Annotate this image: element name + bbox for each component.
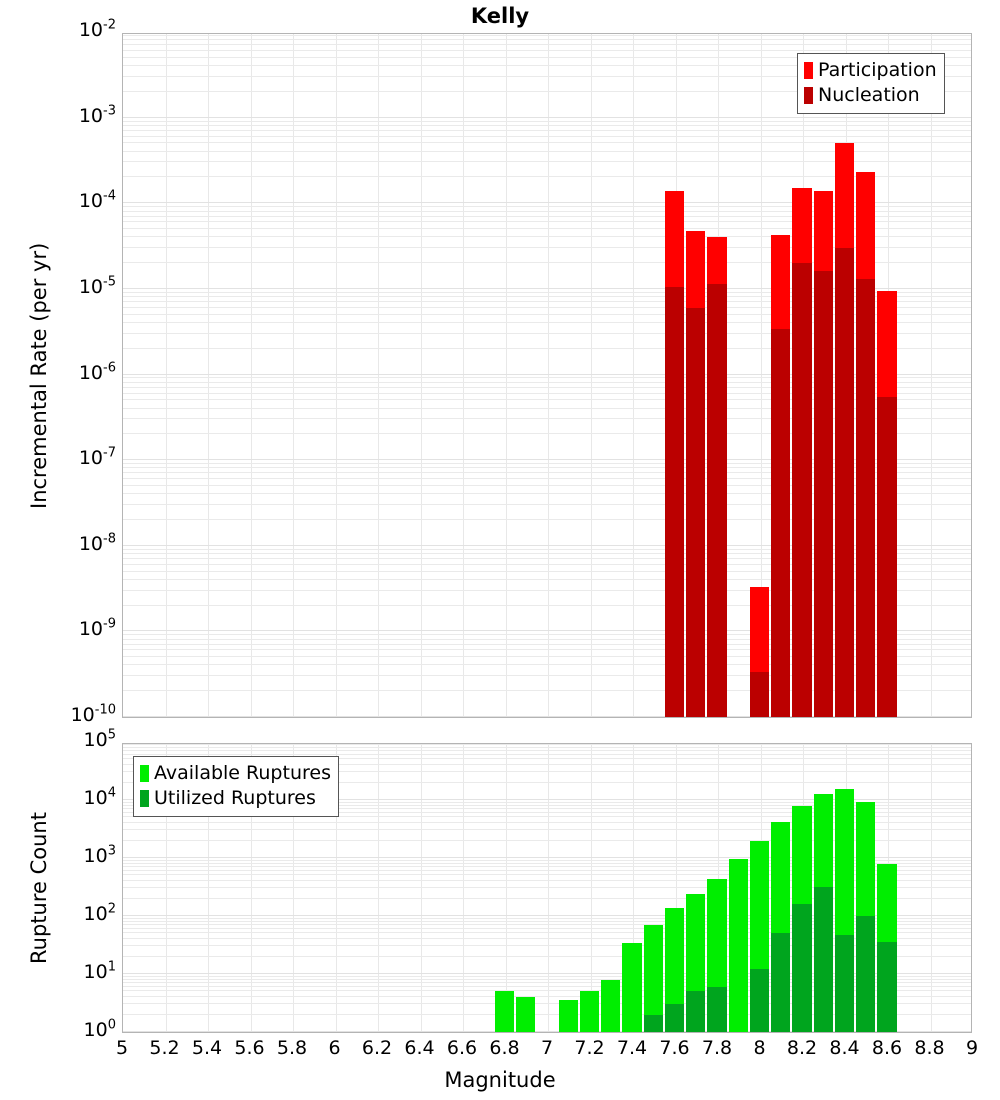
bar-segment-utilized ruptures — [665, 1004, 684, 1032]
y-tick-label: 10-4 — [79, 190, 116, 212]
bar-segment-nucleation — [792, 263, 811, 717]
bar-group — [771, 34, 790, 717]
bar-segment-available ruptures — [580, 991, 599, 1032]
legend-item[interactable]: Participation — [804, 58, 937, 83]
legend-swatch-available — [140, 765, 149, 782]
bar-segment-utilized ruptures — [686, 991, 705, 1032]
bar-group — [516, 744, 535, 1032]
x-axis-title: Magnitude — [0, 1068, 1000, 1092]
bar-group — [814, 744, 833, 1032]
bar-group — [814, 34, 833, 717]
bar-group — [665, 34, 684, 717]
legend-item[interactable]: Available Ruptures — [140, 761, 331, 786]
bar-segment-utilized ruptures — [835, 935, 854, 1032]
bar-segment-nucleation — [686, 308, 705, 717]
y-tick-label: 10-10 — [71, 704, 116, 726]
bar-segment-available ruptures — [601, 980, 620, 1032]
bar-group — [707, 34, 726, 717]
y-tick-label: 10-9 — [79, 618, 116, 640]
legend-swatch-utilized — [140, 790, 149, 807]
legend-item[interactable]: Nucleation — [804, 83, 937, 108]
bar-segment-available ruptures — [495, 991, 514, 1032]
bar-segment-nucleation — [877, 397, 896, 717]
legend-label: Available Ruptures — [154, 764, 331, 783]
bar-group — [622, 744, 641, 1032]
bar-group — [856, 744, 875, 1032]
y-tick-label: 10-6 — [79, 362, 116, 384]
legend-label: Utilized Ruptures — [154, 789, 316, 808]
bottom-plot-legend: Available RupturesUtilized Ruptures — [133, 756, 339, 817]
y-tick-label: 10-3 — [79, 105, 116, 127]
bar-segment-nucleation — [665, 287, 684, 717]
top-plot-bars — [123, 34, 971, 717]
bar-segment-utilized ruptures — [792, 904, 811, 1032]
legend-item[interactable]: Utilized Ruptures — [140, 786, 331, 811]
bar-segment-available ruptures — [622, 943, 641, 1032]
bar-group — [729, 744, 748, 1032]
bar-segment-available ruptures — [516, 997, 535, 1032]
y-tick-label: 102 — [84, 903, 116, 925]
bar-segment-nucleation — [750, 672, 769, 718]
bar-segment-available ruptures — [729, 859, 748, 1032]
bar-group — [771, 744, 790, 1032]
page-title: Kelly — [0, 4, 1000, 28]
bar-segment-utilized ruptures — [644, 1015, 663, 1032]
legend-swatch-nucleation — [804, 87, 813, 104]
bar-segment-nucleation — [707, 284, 726, 717]
y-tick-label: 101 — [84, 961, 116, 983]
bar-segment-nucleation — [835, 248, 854, 717]
bar-group — [580, 744, 599, 1032]
bar-group — [686, 34, 705, 717]
bar-group — [792, 34, 811, 717]
bar-group — [559, 744, 578, 1032]
bar-group — [835, 34, 854, 717]
bar-segment-utilized ruptures — [771, 933, 790, 1032]
bar-segment-utilized ruptures — [856, 916, 875, 1032]
bar-segment-utilized ruptures — [877, 942, 896, 1032]
y-tick-label: 10-8 — [79, 533, 116, 555]
chart-page: Kelly 10-210-310-410-510-610-710-810-910… — [0, 0, 1000, 1100]
top-plot-y-axis-title: Incremental Rate (per yr) — [27, 242, 51, 508]
y-tick-label: 10-7 — [79, 447, 116, 469]
bar-segment-utilized ruptures — [707, 987, 726, 1032]
bar-segment-nucleation — [814, 271, 833, 717]
y-tick-label: 10-2 — [79, 19, 116, 41]
legend-label: Nucleation — [818, 86, 920, 105]
bar-segment-utilized ruptures — [814, 887, 833, 1032]
bar-segment-utilized ruptures — [750, 969, 769, 1032]
bar-segment-available ruptures — [559, 1000, 578, 1032]
y-tick-label: 105 — [84, 729, 116, 751]
bottom-plot-y-axis-title: Rupture Count — [27, 812, 51, 964]
y-tick-label: 10-5 — [79, 276, 116, 298]
bar-group — [877, 744, 896, 1032]
bar-group — [665, 744, 684, 1032]
bar-group — [792, 744, 811, 1032]
bar-group — [707, 744, 726, 1032]
y-tick-label: 103 — [84, 845, 116, 867]
bar-group — [686, 744, 705, 1032]
bar-group — [644, 744, 663, 1032]
y-tick-label: 104 — [84, 787, 116, 809]
bar-group — [877, 34, 896, 717]
bar-group — [856, 34, 875, 717]
bar-group — [750, 744, 769, 1032]
bar-group — [750, 34, 769, 717]
legend-label: Participation — [818, 61, 937, 80]
incremental-rate-plot — [122, 33, 972, 718]
top-plot-legend: ParticipationNucleation — [797, 53, 945, 114]
legend-swatch-participation — [804, 62, 813, 79]
bar-segment-nucleation — [856, 279, 875, 717]
bar-group — [601, 744, 620, 1032]
bar-group — [495, 744, 514, 1032]
bar-segment-nucleation — [771, 329, 790, 717]
bar-group — [835, 744, 854, 1032]
x-tick-label: 9 — [932, 1037, 1000, 1059]
